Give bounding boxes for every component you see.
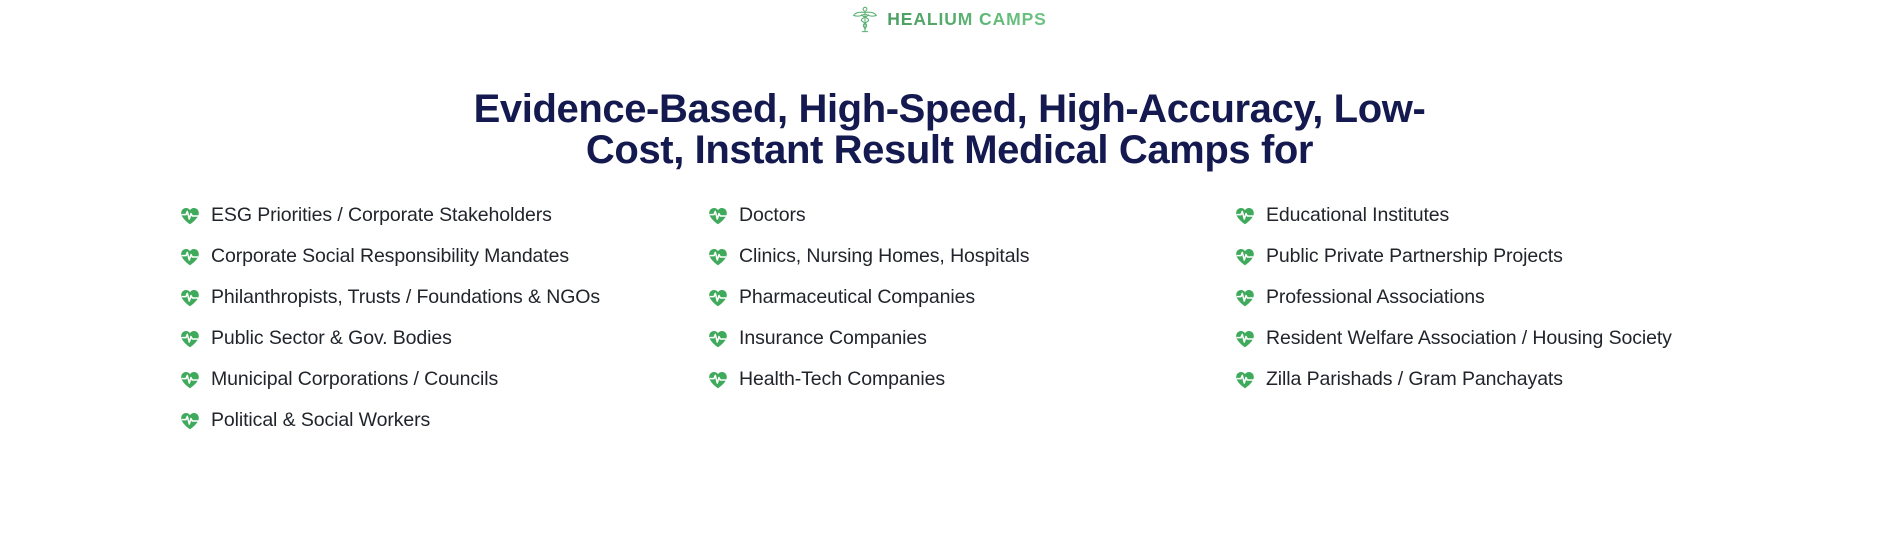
list-item-label: Political & Social Workers [211,405,430,435]
heart-pulse-icon [708,370,728,390]
list-item-label: Insurance Companies [739,323,927,353]
caduceus-icon [852,6,878,34]
list-item-label: Health-Tech Companies [739,364,945,394]
heart-pulse-icon [708,247,728,267]
list-item-label: Professional Associations [1266,282,1485,312]
brand-header: HEALIUM CAMPS [0,0,1899,40]
heart-pulse-icon [180,329,200,349]
list-item: Public Private Partnership Projects [1235,241,1672,282]
heart-pulse-icon [180,288,200,308]
list-item-label: Educational Institutes [1266,200,1449,230]
heart-pulse-icon [1235,206,1255,226]
audience-column-2: Doctors Clinics, Nursing Homes, Hospital… [708,200,1029,405]
list-item-label: Philanthropists, Trusts / Foundations & … [211,282,600,312]
list-item-label: Public Sector & Gov. Bodies [211,323,452,353]
list-item: Doctors [708,200,1029,241]
audience-column-1: ESG Priorities / Corporate Stakeholders … [180,200,600,446]
list-item: Insurance Companies [708,323,1029,364]
list-item: Educational Institutes [1235,200,1672,241]
list-item: Political & Social Workers [180,405,600,446]
heart-pulse-icon [180,206,200,226]
heart-pulse-icon [1235,329,1255,349]
list-item: Zilla Parishads / Gram Panchayats [1235,364,1672,405]
heart-pulse-icon [1235,288,1255,308]
list-item-label: Zilla Parishads / Gram Panchayats [1266,364,1563,394]
audience-columns: ESG Priorities / Corporate Stakeholders … [0,200,1899,460]
list-item-label: Clinics, Nursing Homes, Hospitals [739,241,1029,271]
list-item-label: Resident Welfare Association / Housing S… [1266,323,1672,353]
list-item: Clinics, Nursing Homes, Hospitals [708,241,1029,282]
heart-pulse-icon [1235,247,1255,267]
heart-pulse-icon [708,288,728,308]
list-item: Public Sector & Gov. Bodies [180,323,600,364]
list-item-label: Municipal Corporations / Councils [211,364,498,394]
list-item: ESG Priorities / Corporate Stakeholders [180,200,600,241]
heart-pulse-icon [180,411,200,431]
page-title: Evidence-Based, High-Speed, High-Accurac… [0,89,1899,171]
list-item: Pharmaceutical Companies [708,282,1029,323]
list-item: Professional Associations [1235,282,1672,323]
list-item-label: ESG Priorities / Corporate Stakeholders [211,200,552,230]
heart-pulse-icon [708,206,728,226]
heart-pulse-icon [1235,370,1255,390]
list-item-label: Public Private Partnership Projects [1266,241,1563,271]
list-item: Philanthropists, Trusts / Foundations & … [180,282,600,323]
list-item: Municipal Corporations / Councils [180,364,600,405]
list-item-label: Pharmaceutical Companies [739,282,975,312]
list-item-label: Doctors [739,200,805,230]
audience-column-3: Educational Institutes Public Private Pa… [1235,200,1672,405]
heart-pulse-icon [180,370,200,390]
list-item: Resident Welfare Association / Housing S… [1235,323,1672,364]
list-item-label: Corporate Social Responsibility Mandates [211,241,569,271]
list-item: Health-Tech Companies [708,364,1029,405]
heart-pulse-icon [180,247,200,267]
heart-pulse-icon [708,329,728,349]
brand-name: HEALIUM CAMPS [887,11,1046,29]
list-item: Corporate Social Responsibility Mandates [180,241,600,282]
